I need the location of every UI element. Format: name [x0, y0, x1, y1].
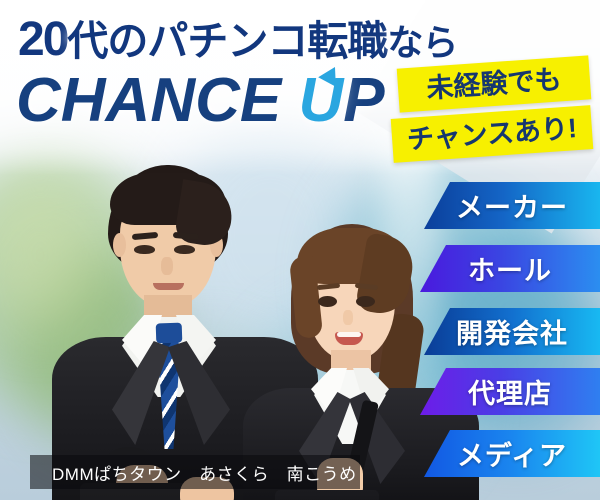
category-banner-agency[interactable]: 代理店 — [420, 368, 600, 415]
logo-chance-up: CHANCE UP — [16, 70, 385, 132]
headline: 20代のパチンコ転職なら — [18, 16, 457, 64]
man-ear-left — [113, 233, 126, 257]
category-banner-developer[interactable]: 開発会社 — [424, 308, 600, 355]
category-banner-hall[interactable]: ホール — [420, 245, 600, 292]
man-eye-left — [134, 245, 155, 254]
category-banner-media[interactable]: メディア — [424, 430, 600, 477]
headline-suffix: なら — [387, 22, 457, 63]
woman-teeth — [337, 332, 361, 337]
logo-word-chance: CHANCE — [16, 66, 298, 135]
man-eye-right — [174, 245, 195, 254]
headline-number: 20 — [18, 13, 67, 66]
headline-middle: 代のパチンコ転職 — [67, 18, 387, 64]
woman-eye-left — [318, 296, 337, 307]
man-nose — [161, 257, 173, 275]
woman-eye-right — [356, 296, 375, 307]
woman-nose — [343, 310, 353, 325]
logo-letter-p: P — [343, 66, 384, 135]
woman-bag — [275, 490, 379, 500]
man-tie-knot — [156, 323, 183, 344]
ad-banner[interactable]: 20代のパチンコ転職なら CHANCE UP 未経験でも チャンスあり! メーカ… — [0, 0, 600, 500]
man-mouth — [153, 283, 184, 290]
credits-bar: DMMぱちタウン あさくら 南こうめ — [30, 455, 360, 489]
logo-letter-u-arrow-icon: U — [298, 70, 343, 132]
category-banner-maker[interactable]: メーカー — [424, 182, 600, 229]
